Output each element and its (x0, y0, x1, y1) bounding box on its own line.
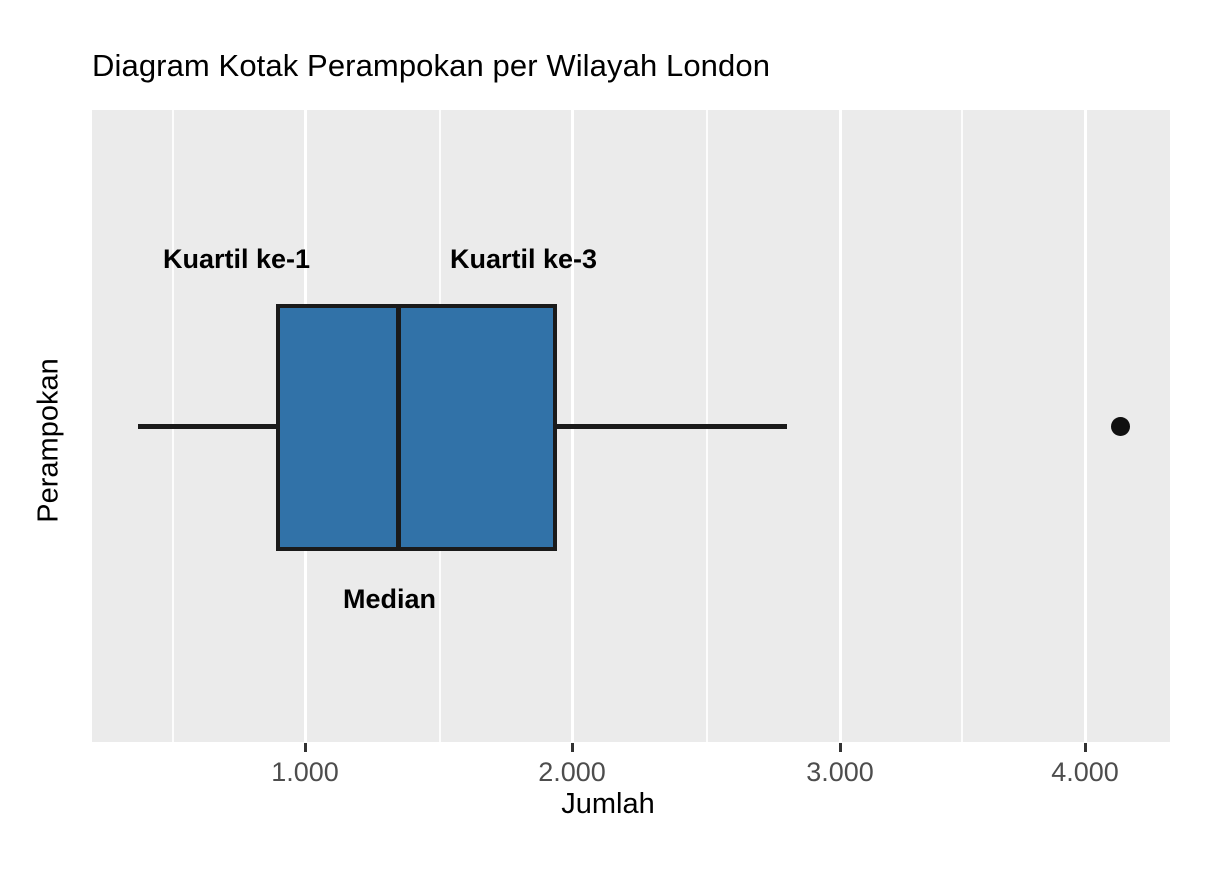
annotation-q3: Kuartil ke-3 (450, 244, 597, 275)
tick-mark-1000 (304, 743, 307, 752)
page-title: Diagram Kotak Perampokan per Wilayah Lon… (92, 48, 770, 84)
median-line (396, 304, 401, 551)
tick-mark-4000 (1084, 743, 1087, 752)
tick-label-2000: 2.000 (538, 757, 606, 788)
gridline-minor-3 (961, 110, 963, 742)
tick-mark-2000 (571, 743, 574, 752)
tick-mark-3000 (839, 743, 842, 752)
whisker-upper (555, 424, 787, 429)
tick-label-3000: 3.000 (806, 757, 874, 788)
tick-label-4000: 4.000 (1051, 757, 1119, 788)
y-axis-title-label: Perampokan (33, 358, 66, 522)
gridline-major-4000 (1084, 110, 1087, 742)
whisker-lower (138, 424, 278, 429)
annotation-q1: Kuartil ke-1 (163, 244, 310, 275)
tick-label-1000: 1.000 (271, 757, 339, 788)
outlier-point (1111, 417, 1130, 436)
plot-panel: Kuartil ke-1 Kuartil ke-3 Median (92, 110, 1170, 742)
box-iqr (276, 304, 557, 551)
annotation-median: Median (343, 584, 436, 615)
x-axis-title: Jumlah (0, 788, 1216, 821)
box-plot-figure: Diagram Kotak Perampokan per Wilayah Lon… (0, 0, 1216, 880)
y-axis-title: Perampokan (26, 0, 72, 880)
gridline-major-3000 (839, 110, 842, 742)
